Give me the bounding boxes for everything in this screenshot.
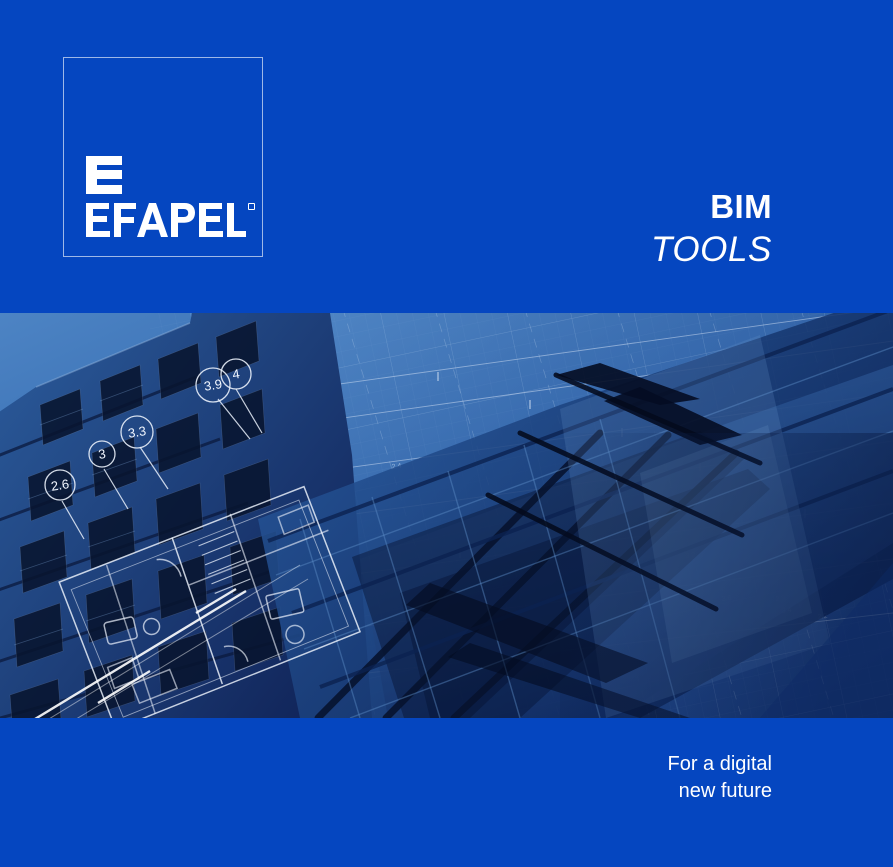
brochure-cover: 2.5 3.1 2.8 2.7 3.0 2.4 3.2 3.6 2.9 3.4 … (0, 0, 893, 867)
efapel-wordmark-icon (86, 203, 246, 237)
cover-title: BIM TOOLS (651, 190, 772, 267)
hero-image: 2.5 3.1 2.8 2.7 3.0 2.4 3.2 3.6 2.9 3.4 … (0, 313, 893, 718)
tagline-line-1: For a digital (668, 751, 773, 778)
footer-band: For a digital new future (0, 718, 893, 867)
title-line-bim: BIM (651, 190, 772, 223)
tagline: For a digital new future (668, 751, 773, 804)
registered-trademark-icon (248, 203, 255, 210)
brand-wordmark (86, 203, 246, 237)
svg-text:2.6: 2.6 (50, 476, 70, 494)
svg-text:3.3: 3.3 (127, 423, 147, 441)
svg-text:3.9: 3.9 (203, 376, 223, 394)
brand-logo (86, 156, 251, 237)
efapel-e-mark-icon (86, 156, 122, 194)
header-band: BIM TOOLS (0, 0, 893, 313)
title-line-tools: TOOLS (651, 232, 772, 267)
hero-artwork: 2.5 3.1 2.8 2.7 3.0 2.4 3.2 3.6 2.9 3.4 … (0, 313, 893, 718)
logo-frame (63, 57, 263, 257)
tagline-line-2: new future (668, 778, 773, 805)
